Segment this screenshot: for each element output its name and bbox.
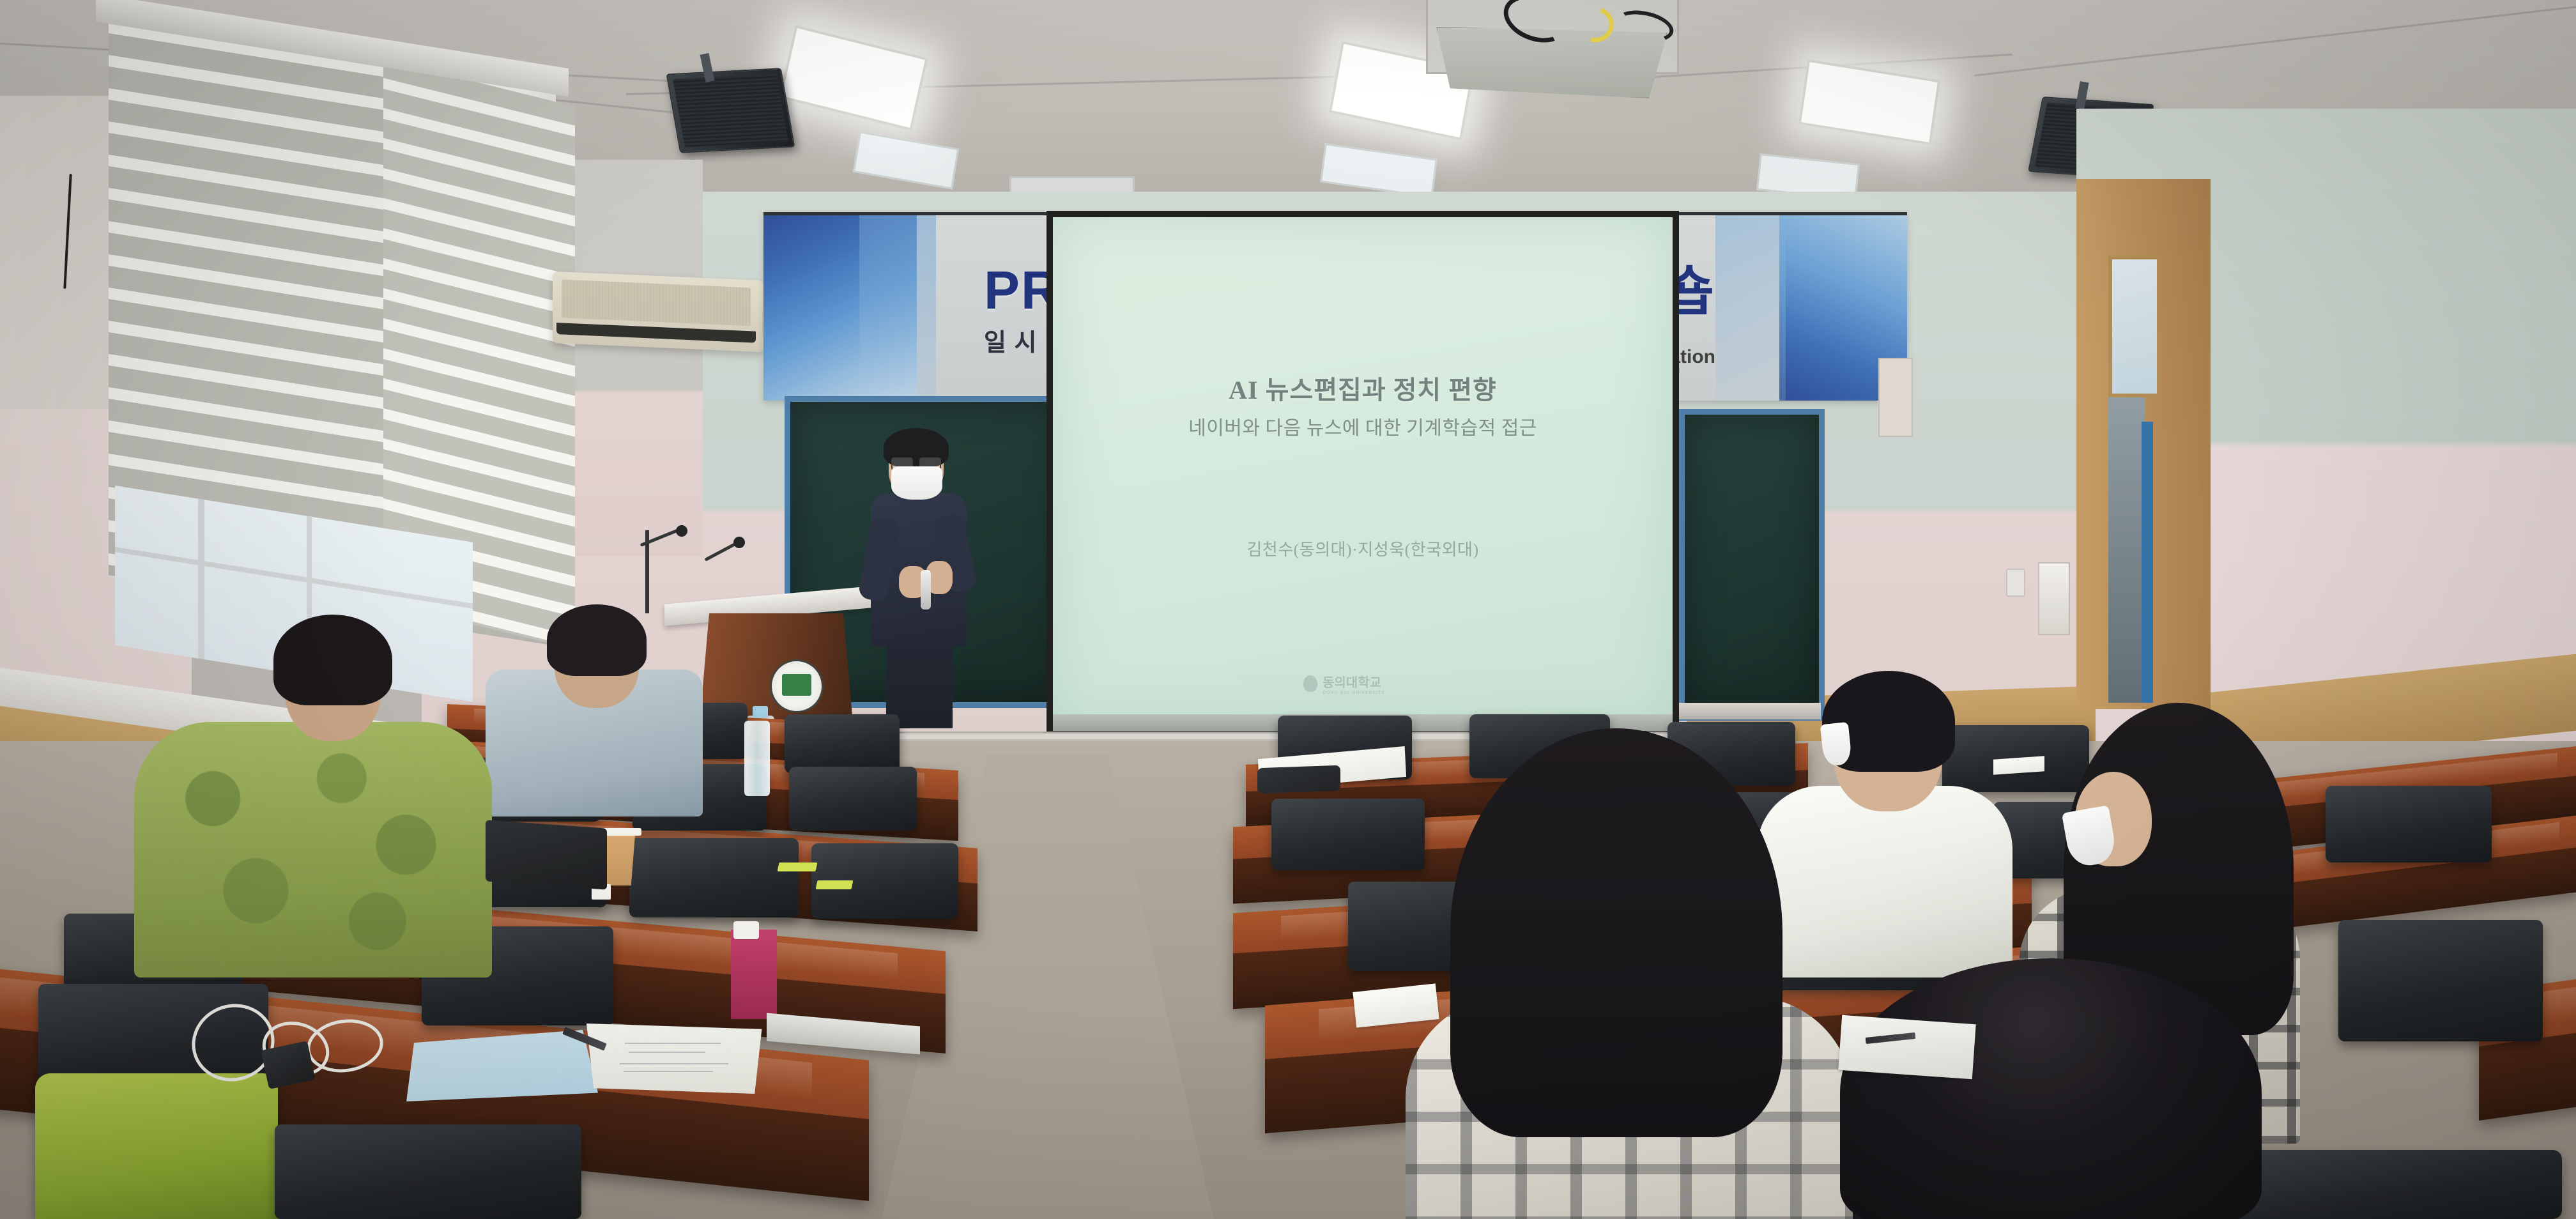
slide-logo-subtext: DONG-EUI UNIVERSITY (1322, 691, 1385, 695)
eyeglasses-case (1257, 765, 1340, 794)
attendee-long-hair (1450, 728, 1782, 1137)
slide-title: AI 뉴스편집과 정치 편향 (1053, 369, 1673, 406)
university-emblem-icon (770, 659, 824, 713)
wall-outlet (2006, 569, 2025, 597)
slide-authors: 김천수(동의대)·지성욱(한국외대) (1053, 537, 1673, 560)
presenter-face-mask (891, 466, 942, 500)
attendee-front-left (160, 613, 492, 971)
chair[interactable] (2338, 920, 2543, 1041)
booklet-right-page (586, 1023, 765, 1094)
handheld-microphone (921, 570, 931, 609)
microphone-head-icon (676, 525, 687, 537)
university-mark-icon (1303, 675, 1317, 692)
banner-poly-accent (859, 215, 936, 401)
air-conditioner (553, 272, 763, 352)
banner-poly-accent (1715, 215, 1786, 401)
door-glass-panel (2108, 256, 2161, 397)
ceiling-speaker (666, 68, 795, 153)
chair[interactable] (2326, 786, 2492, 862)
pink-beverage-carton (731, 930, 777, 1019)
slide-logo-text: 동의대학교 DONG-EUI UNIVERSITY (1322, 672, 1385, 695)
door-blue-strip (2142, 422, 2153, 703)
attendee-foreground-right (1840, 958, 2262, 1219)
water-bottle (744, 721, 770, 796)
slide-subtitle: 네이버와 다음 뉴스에 대한 기계학습적 접근 (1053, 412, 1673, 440)
wall-control-box (2038, 562, 2070, 635)
slide-university-logo: 동의대학교 DONG-EUI UNIVERSITY (1303, 672, 1385, 695)
attendee-hair (547, 604, 647, 676)
black-folder (486, 820, 607, 889)
carton-cap (733, 921, 759, 939)
attendee-long-hair (1840, 958, 2262, 1219)
chair[interactable] (2230, 1150, 2562, 1219)
bottle-cap (753, 706, 768, 717)
green-paper-slip (778, 862, 818, 871)
papers (1838, 1015, 1975, 1079)
chair[interactable] (785, 714, 900, 773)
chair[interactable] (789, 767, 917, 831)
attendee-hair (273, 615, 392, 705)
attendee-torso (134, 722, 492, 977)
microphone-head-icon (733, 537, 745, 548)
attendee-long-hair-center (1393, 728, 1878, 1219)
attendee-back-left (473, 601, 728, 811)
door-opening (2108, 396, 2145, 703)
green-paper-slip (816, 880, 854, 889)
chair-green[interactable] (35, 1073, 278, 1219)
projection-screen: AI 뉴스편집과 정치 편향 네이버와 다음 뉴스에 대한 기계학습적 접근 김… (1053, 217, 1673, 728)
lecture-room-photo: PR커뮤니 일 시 : 2021년 7월 2일 크숍 ENovation hum… (0, 0, 2576, 1219)
chair[interactable] (629, 838, 799, 917)
presenter (859, 434, 981, 728)
chair[interactable] (275, 1124, 581, 1219)
wall-poster-frame (1878, 358, 1913, 437)
